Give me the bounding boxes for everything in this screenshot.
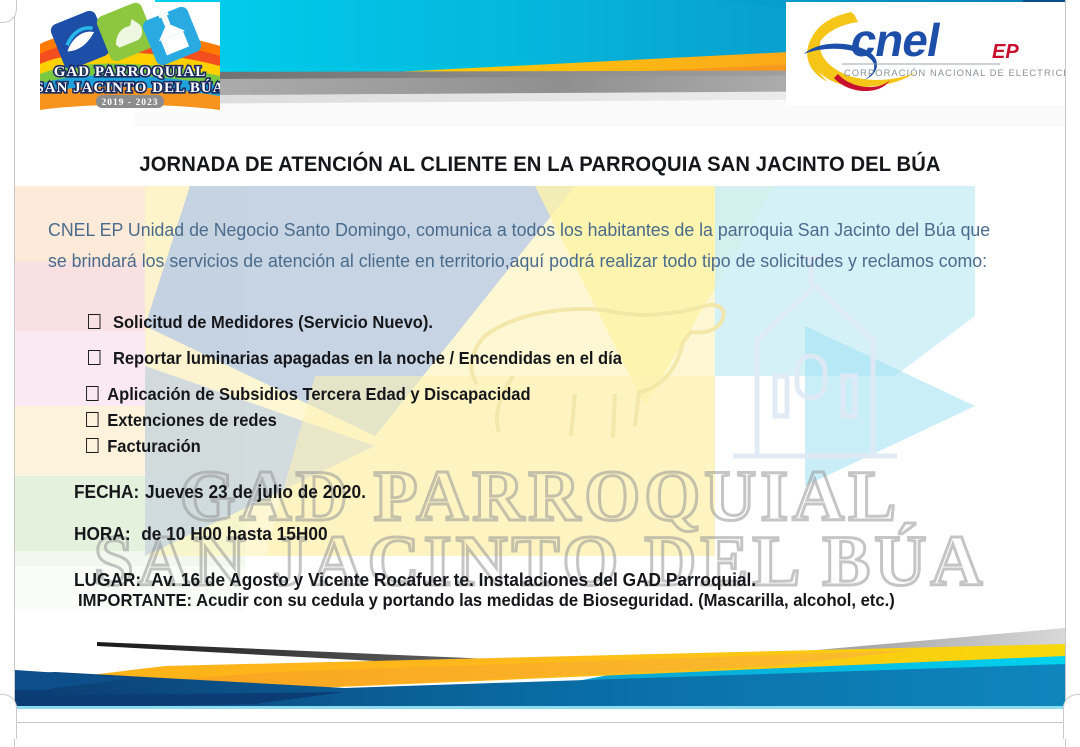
detail-value-lugar: Av. 16 de Agosto y Vicente Rocafuer te. …	[147, 570, 756, 590]
event-details: FECHA:Jueves 23 de julio de 2020. HORA: …	[74, 482, 1034, 591]
list-item-label: Facturación	[107, 436, 201, 457]
detail-value-fecha: Jueves 23 de julio de 2020.	[145, 482, 366, 502]
footer-banner-graphic	[15, 622, 1065, 722]
sheet-border-right	[1065, 0, 1066, 747]
list-item: Reportar luminarias apagadas en la noche…	[88, 348, 952, 369]
checkbox-bullet-icon	[88, 314, 100, 329]
detail-label-hora: HORA:	[74, 524, 131, 544]
services-list: Solicitud de Medidores (Servicio Nuevo).…	[88, 312, 988, 462]
important-notice: IMPORTANTE: Acudir con su cedula y porta…	[78, 590, 1014, 611]
detail-label-lugar: LUGAR:	[74, 570, 141, 590]
list-item-label: Solicitud de Medidores (Servicio Nuevo).	[113, 312, 433, 333]
list-item-label: Extenciones de redes	[107, 410, 277, 431]
detail-label-fecha: FECHA:	[74, 482, 139, 502]
checkbox-bullet-icon	[86, 412, 98, 427]
checkbox-bullet-icon	[86, 386, 98, 401]
detail-row-lugar: LUGAR: Av. 16 de Agosto y Vicente Rocafu…	[74, 570, 996, 591]
list-item-label: Reportar luminarias apagadas en la noche…	[113, 348, 622, 369]
sheet-border-left	[14, 0, 15, 747]
list-item-label: Aplicación de Subsidios Tercera Edad y D…	[107, 384, 530, 405]
list-item: Solicitud de Medidores (Servicio Nuevo).	[88, 312, 952, 333]
detail-row-fecha: FECHA:Jueves 23 de julio de 2020.	[74, 482, 996, 503]
list-item: Facturación	[88, 436, 952, 457]
checkbox-bullet-icon	[88, 350, 100, 365]
sheet-border-bottom	[14, 722, 1066, 723]
list-item: Extenciones de redes	[88, 410, 952, 431]
page-title: JORNADA DE ATENCIÓN AL CLIENTE EN LA PAR…	[32, 152, 1047, 177]
detail-value-hora: de 10 H00 hasta 15H00	[136, 524, 327, 544]
detail-row-hora: HORA: de 10 H00 hasta 15H00	[74, 524, 996, 545]
intro-paragraph: CNEL EP Unidad de Negocio Santo Domingo,…	[48, 214, 1001, 276]
list-item: Aplicación de Subsidios Tercera Edad y D…	[88, 384, 952, 405]
page-sheet: GAD PARROQUIAL SAN JACINTO DEL BÚA 2019 …	[0, 0, 1080, 747]
checkbox-bullet-icon	[86, 438, 98, 453]
page-corner-tab-bottom-right	[1063, 694, 1080, 739]
page-corner-tab-bottom-left	[0, 694, 17, 739]
